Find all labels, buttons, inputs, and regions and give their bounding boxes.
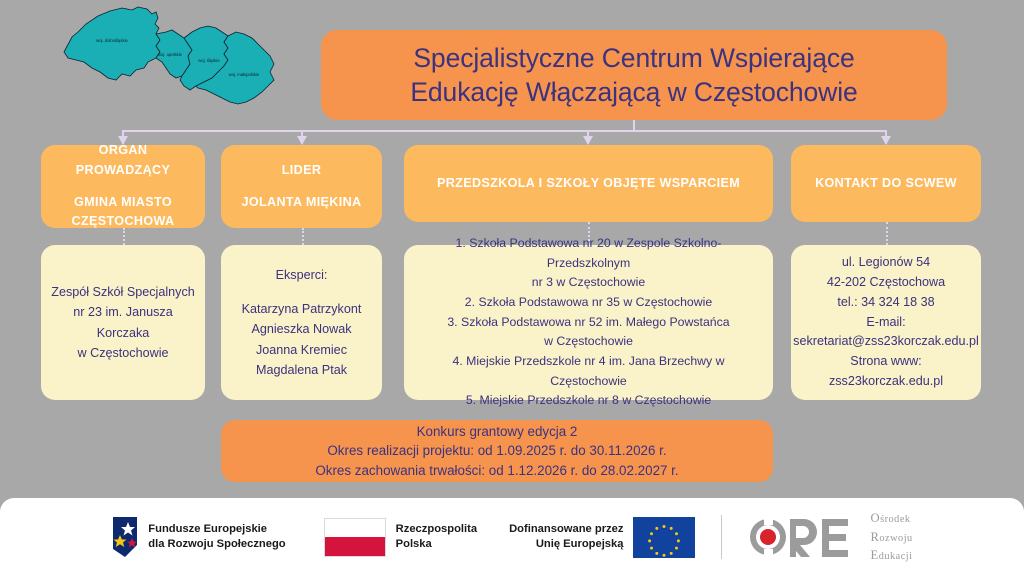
contact-www-label: Strona www: [850,352,921,372]
republic-label-line-1: Rzeczpospolita [396,522,477,537]
grant-banner: Konkurs grantowy edycja 2 Okres realizac… [221,420,773,482]
header-line-2: JOLANTA MIĘKINA [242,193,362,213]
republic-label-line-2: Polska [396,537,477,552]
contact-street: ul. Legionów 54 [842,253,930,273]
flag-stripe-white [325,519,385,538]
expert-name: Joanna Kremiec [256,340,347,360]
header-box-kontakt[interactable]: KONTAKT DO SCWEW [791,145,981,222]
eu-flag-icon [633,517,695,558]
school-line: 1. Szkoła Podstawowa nr 20 w Zespole Szk… [414,234,763,273]
school-line: 5. Miejskie Przedszkole nr 8 w Częstocho… [466,391,711,411]
header-line-1: PRZEDSZKOLA I SZKOŁY OBJĘTE WSPARCIEM [437,174,740,194]
content-box-organ-prowadzacy: Zespół Szkół Specjalnych nr 23 im. Janus… [41,245,205,400]
logo-rzeczpospolita-polska: Rzeczpospolita Polska [324,518,477,557]
header-line-1: ORGAN PROWADZĄCY [51,141,195,180]
eu-funds-label: Fundusze Europejskie dla Rozwoju Społecz… [148,522,285,552]
school-line: 4. Miejskie Przedszkole nr 4 im. Jana Br… [414,352,763,391]
logo-dofinansowane-ue: Dofinansowane przez Unię Europejską [509,517,695,558]
map-label-dolnoslaskie: woj. dolnośląskie [96,38,128,43]
header-box-lider[interactable]: LIDER JOLANTA MIĘKINA [221,145,382,228]
flag-stripe-red [325,537,385,556]
ore-label-line-2: Rozwoju [870,528,912,547]
dotted-connector-2 [302,228,304,245]
ore-icon [748,517,860,557]
footer-divider [721,515,722,559]
logo-fundusze-europejskie: Fundusze Europejskie dla Rozwoju Społecz… [111,515,285,559]
content-label-eksperci: Eksperci: [276,265,328,285]
header-line-1: LIDER [282,161,322,181]
republic-label: Rzeczpospolita Polska [396,522,477,552]
contact-email[interactable]: sekretariat@zss23korczak.edu.pl [793,332,979,352]
expert-name: Magdalena Ptak [256,360,347,380]
contact-city: 42-202 Częstochowa [827,273,945,293]
logo-ore: Ośrodek Rozwoju Edukacji [748,509,912,566]
footer-logo-bar: Fundusze Europejskie dla Rozwoju Społecz… [0,498,1024,576]
dotted-connector-4 [886,222,888,245]
page-title: Specjalistyczne Centrum Wspierające Eduk… [321,30,947,120]
banner-line-1: Konkurs grantowy edycja 2 [417,422,578,441]
page-title-line-2: Edukację Włączającą w Częstochowie [410,75,857,109]
eu-funds-label-line-2: dla Rozwoju Społecznego [148,537,285,552]
banner-line-3: Okres zachowania trwałości: od 1.12.2026… [315,461,678,480]
content-line: w Częstochowie [78,343,169,363]
expert-name: Katarzyna Patrzykont [242,299,362,319]
header-box-organ-prowadzacy[interactable]: ORGAN PROWADZĄCY GMINA MIASTO CZĘSTOCHOW… [41,145,205,228]
header-line-1: KONTAKT DO SCWEW [815,174,957,194]
school-line: w Częstochowie [544,332,633,352]
contact-email-label: E-mail: [866,313,905,333]
eu-funds-label-line-1: Fundusze Europejskie [148,522,285,537]
header-box-przedszkola-i-szkoly[interactable]: PRZEDSZKOLA I SZKOŁY OBJĘTE WSPARCIEM [404,145,773,222]
school-line: 2. Szkoła Podstawowa nr 35 w Częstochowi… [465,293,712,313]
header-line-2: GMINA MIASTO [74,193,172,213]
banner-line-2: Okres realizacji projektu: od 1.09.2025 … [327,441,666,460]
eu-funds-icon [111,515,139,559]
ore-label-line-1: Ośrodek [870,509,912,528]
infographic-canvas: woj. dolnośląskie woj. opolskie woj. ślą… [0,0,1024,576]
content-line: Zespół Szkół Specjalnych [51,282,195,302]
cofinanced-label-line-1: Dofinansowane przez [509,522,623,537]
ore-label-line-3: Edukacji [870,546,912,565]
expert-name: Agnieszka Nowak [251,319,351,339]
dotted-connector-1 [123,228,125,245]
school-line: nr 3 w Częstochowie [532,273,645,293]
ore-label: Ośrodek Rozwoju Edukacji [870,509,912,566]
map-label-malopolskie: woj. małopolskie [229,72,260,77]
contact-phone: tel.: 34 324 18 38 [837,293,934,313]
content-box-kontakt: ul. Legionów 54 42-202 Częstochowa tel.:… [791,245,981,400]
map-label-slaskie: woj. śląskie [198,58,220,63]
cofinanced-label: Dofinansowane przez Unię Europejską [509,522,623,552]
page-title-line-1: Specjalistyczne Centrum Wspierające [413,41,854,75]
school-line: 3. Szkoła Podstawowa nr 52 im. Małego Po… [447,313,729,333]
contact-www[interactable]: zss23korczak.edu.pl [829,372,943,392]
content-box-eksperci: Eksperci: Katarzyna Patrzykont Agnieszka… [221,245,382,400]
content-line: nr 23 im. Janusza Korczaka [51,302,195,343]
map-poland-voivodeships: woj. dolnośląskie woj. opolskie woj. ślą… [52,2,284,122]
map-label-opolskie: woj. opolskie [158,52,183,57]
poland-flag-icon [324,518,386,557]
cofinanced-label-line-2: Unię Europejską [509,537,623,552]
content-box-szkoly: 1. Szkoła Podstawowa nr 20 w Zespole Szk… [404,245,773,400]
